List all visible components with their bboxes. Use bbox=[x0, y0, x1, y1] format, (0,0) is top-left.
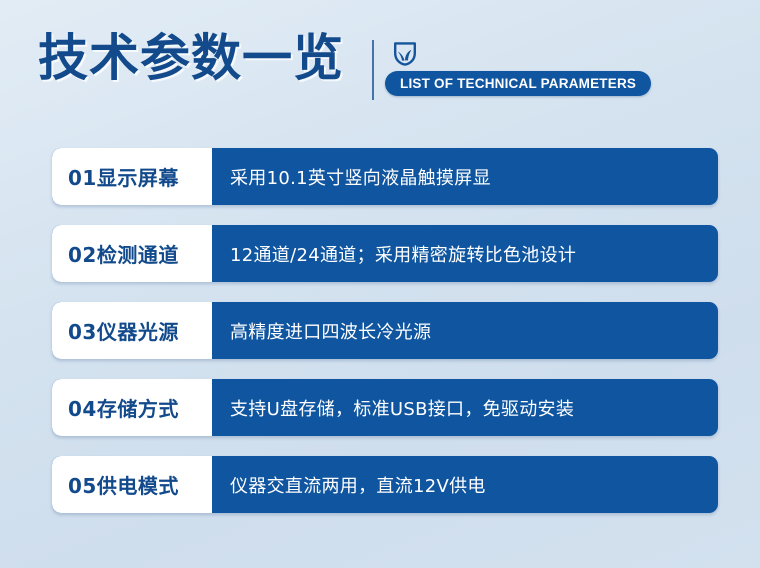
row-label-text: 04存储方式 bbox=[68, 393, 179, 422]
row-label-text: 02检测通道 bbox=[68, 239, 179, 268]
row-value-text: 支持U盘存储，标准USB接口，免驱动安装 bbox=[230, 395, 574, 421]
row-value-text: 仪器交直流两用，直流12V供电 bbox=[230, 472, 486, 498]
parameter-rows-list: 01显示屏幕 采用10.1英寸竖向液晶触摸屏显 02检测通道 12通道/24通道… bbox=[0, 0, 760, 568]
row-label-text: 01显示屏幕 bbox=[68, 162, 179, 191]
row-label-cell: 05供电模式 bbox=[52, 456, 212, 513]
table-row: 04存储方式 支持U盘存储，标准USB接口，免驱动安装 bbox=[52, 379, 718, 436]
row-label-cell: 03仪器光源 bbox=[52, 302, 212, 359]
row-label-text: 03仪器光源 bbox=[68, 316, 179, 345]
row-label-cell: 02检测通道 bbox=[52, 225, 212, 282]
row-label-cell: 01显示屏幕 bbox=[52, 148, 212, 205]
table-row: 02检测通道 12通道/24通道；采用精密旋转比色池设计 bbox=[52, 225, 718, 282]
row-value-text: 12通道/24通道；采用精密旋转比色池设计 bbox=[230, 241, 576, 267]
row-label-cell: 04存储方式 bbox=[52, 379, 212, 436]
table-row: 05供电模式 仪器交直流两用，直流12V供电 bbox=[52, 456, 718, 513]
table-row: 01显示屏幕 采用10.1英寸竖向液晶触摸屏显 bbox=[52, 148, 718, 205]
row-value-cell: 采用10.1英寸竖向液晶触摸屏显 bbox=[212, 148, 718, 205]
technical-parameters-page: 技术参数一览 LIST OF TECHNICAL PARAMETERS 01显示… bbox=[0, 0, 760, 568]
row-value-cell: 支持U盘存储，标准USB接口，免驱动安装 bbox=[212, 379, 718, 436]
table-row: 03仪器光源 高精度进口四波长冷光源 bbox=[52, 302, 718, 359]
row-value-text: 高精度进口四波长冷光源 bbox=[230, 318, 431, 344]
row-value-cell: 高精度进口四波长冷光源 bbox=[212, 302, 718, 359]
row-label-text: 05供电模式 bbox=[68, 470, 179, 499]
row-value-cell: 12通道/24通道；采用精密旋转比色池设计 bbox=[212, 225, 718, 282]
row-value-cell: 仪器交直流两用，直流12V供电 bbox=[212, 456, 718, 513]
row-value-text: 采用10.1英寸竖向液晶触摸屏显 bbox=[230, 164, 491, 190]
